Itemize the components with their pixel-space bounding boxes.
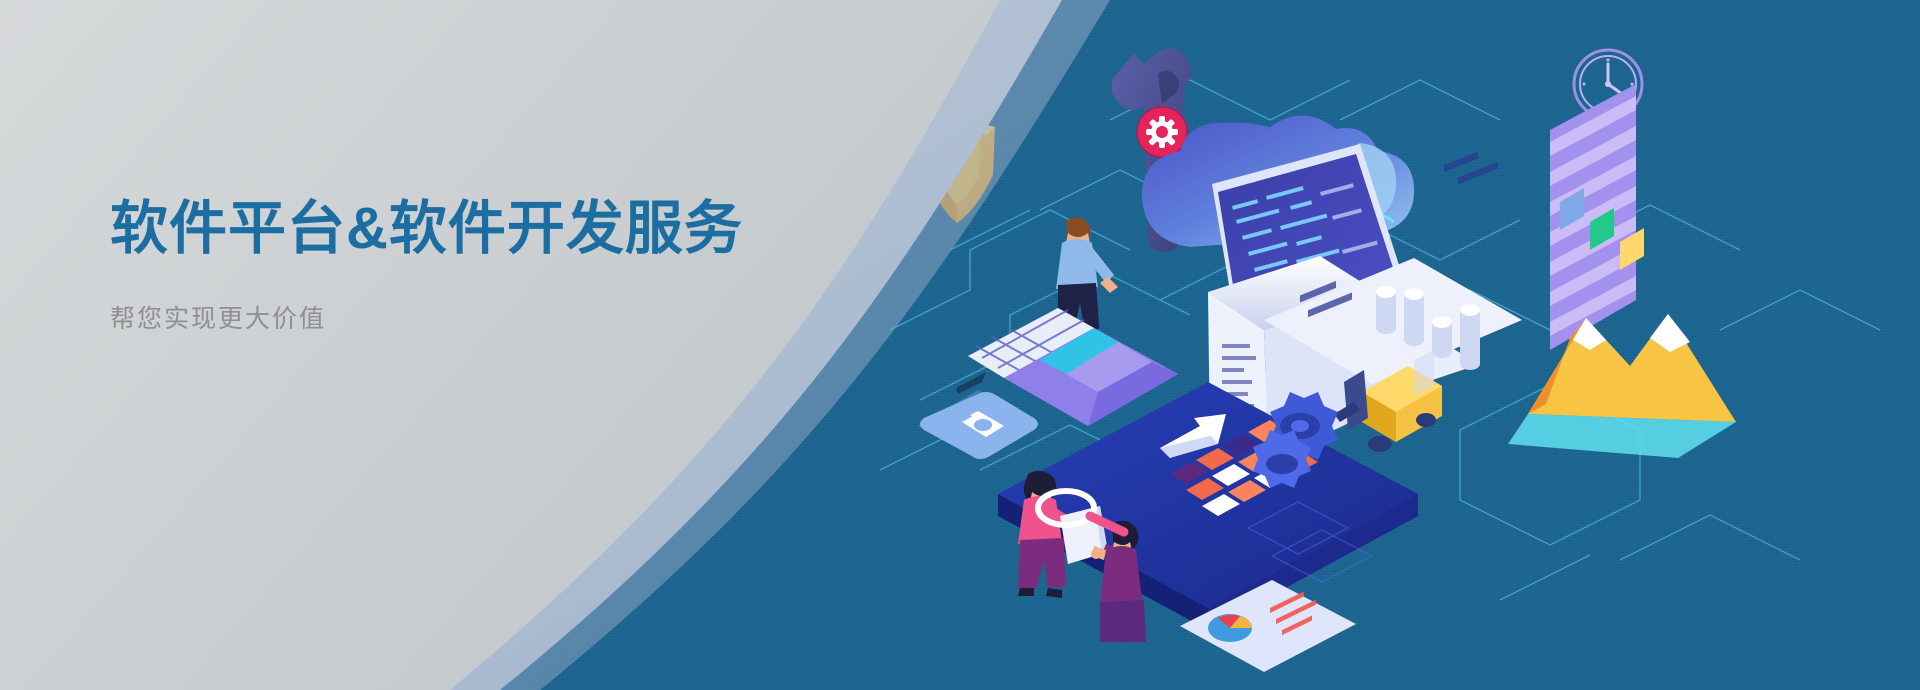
banner-copy: 软件平台&软件开发服务 帮您实现更大价值 xyxy=(110,196,870,335)
hero-banner: 软件平台&软件开发服务 帮您实现更大价值 xyxy=(0,0,1920,690)
page-subtitle: 帮您实现更大价值 xyxy=(110,299,870,335)
page-title: 软件平台&软件开发服务 xyxy=(110,196,870,263)
curved-divider xyxy=(0,0,1920,690)
